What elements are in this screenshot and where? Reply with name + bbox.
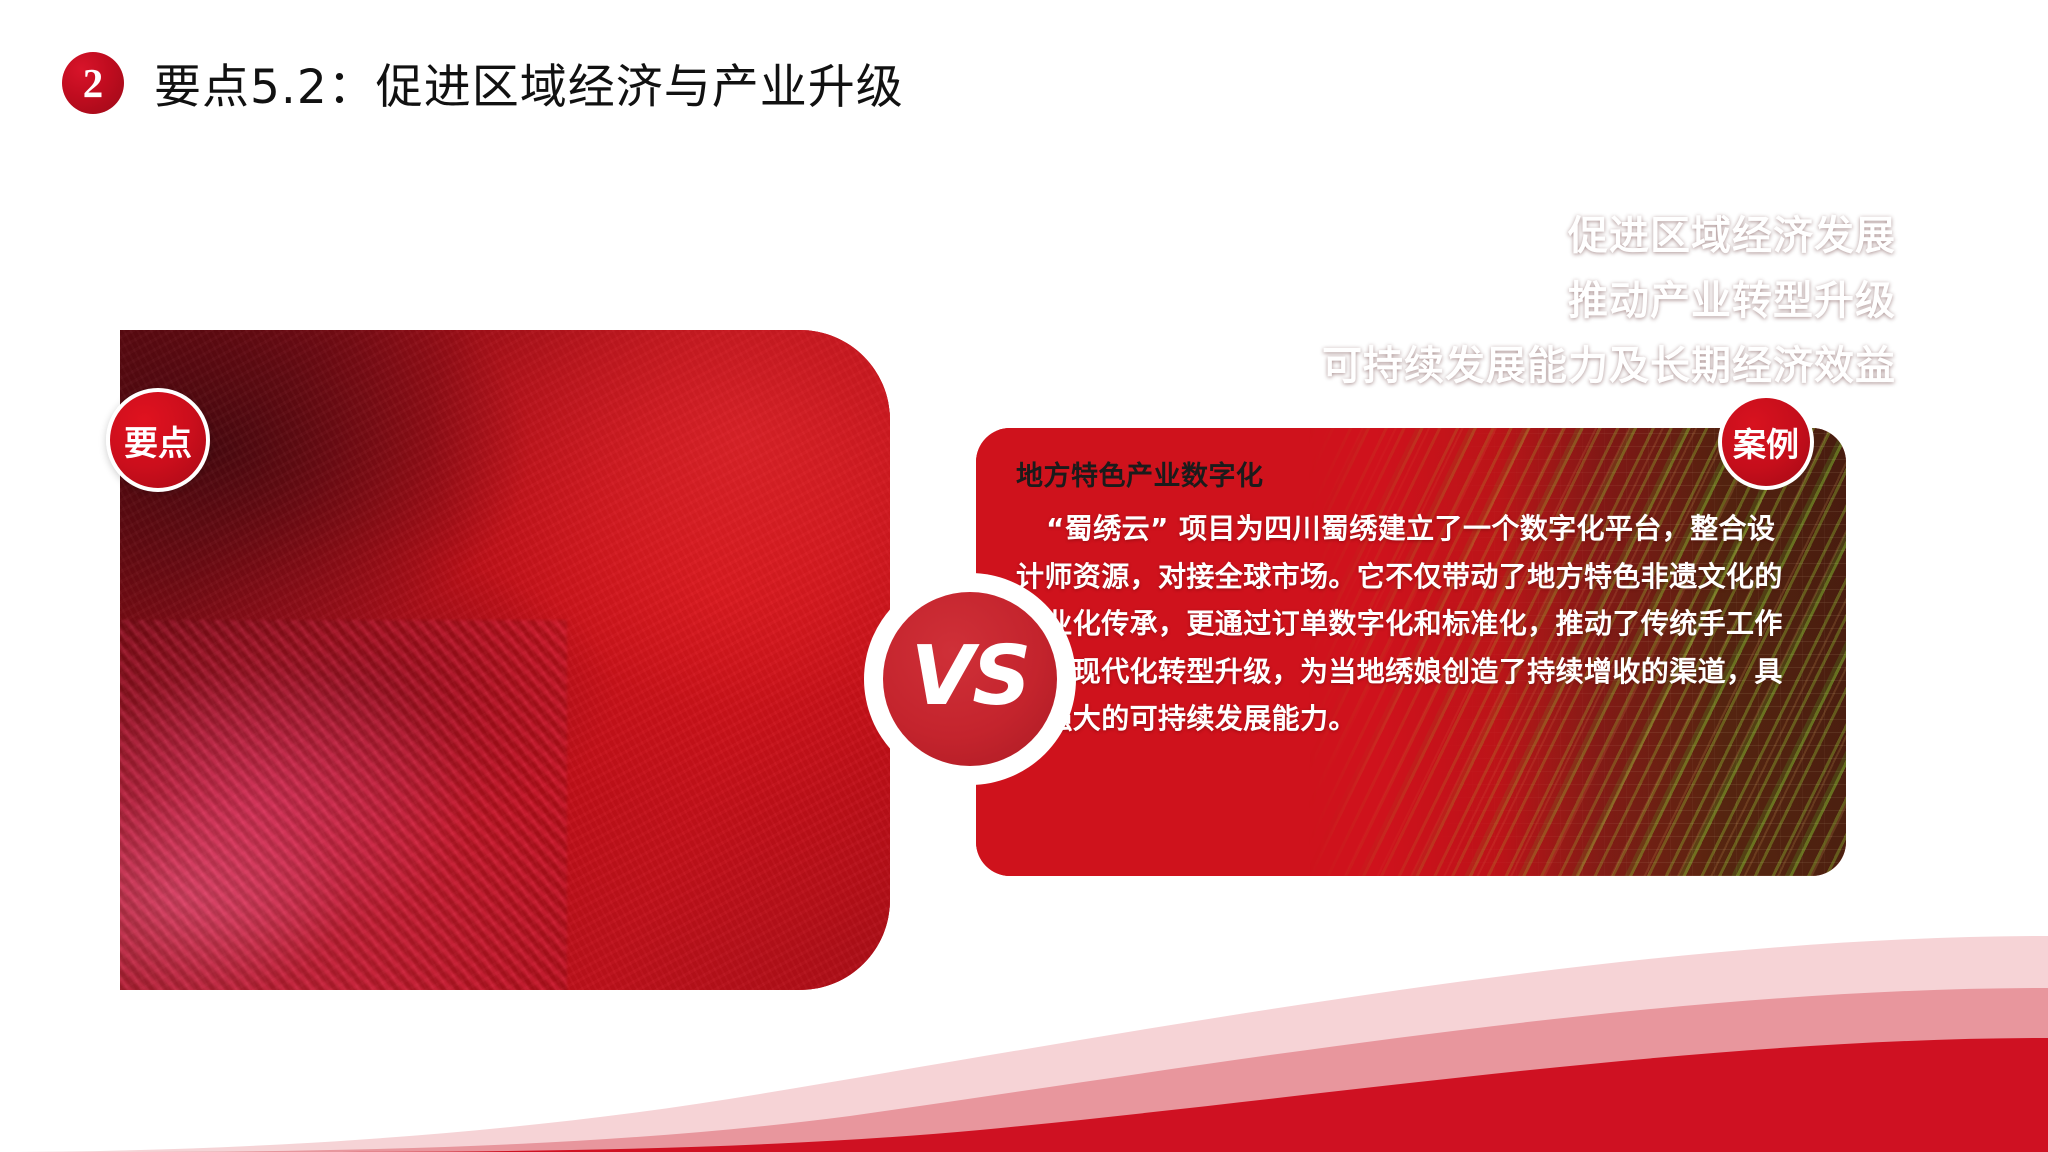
- red-glow-overlay: [428, 330, 890, 713]
- page-title: 要点5.2：促进区域经济与产业升级: [154, 48, 904, 117]
- key-point-line: 可持续发展能力及长期经济效益: [1276, 334, 1896, 399]
- swoosh-strong: [300, 1038, 2048, 1152]
- key-point-line: 推动产业转型升级: [1276, 269, 1896, 334]
- vs-divider-badge: VS: [864, 573, 1076, 785]
- case-study-content: 地方特色产业数字化 “蜀绣云” 项目为四川蜀绣建立了一个数字化平台，整合设计师资…: [1016, 454, 1790, 743]
- key-point-line: 促进区域经济发展: [1276, 204, 1896, 269]
- slide-header: 2 要点5.2：促进区域经济与产业升级: [62, 48, 904, 117]
- swoosh-mid: [120, 988, 2048, 1152]
- vs-label: VS: [911, 636, 1030, 718]
- key-point-card: [120, 330, 890, 990]
- key-point-badge: 要点: [106, 388, 210, 492]
- case-study-body: “蜀绣云” 项目为四川蜀绣建立了一个数字化平台，整合设计师资源，对接全球市场。它…: [1016, 505, 1790, 743]
- case-study-subtitle: 地方特色产业数字化: [1016, 454, 1790, 493]
- key-point-list: 促进区域经济发展 推动产业转型升级 可持续发展能力及长期经济效益: [1276, 204, 1896, 398]
- case-study-card: 地方特色产业数字化 “蜀绣云” 项目为四川蜀绣建立了一个数字化平台，整合设计师资…: [976, 428, 1846, 876]
- section-number-badge: 2: [62, 52, 124, 114]
- vs-inner-circle: VS: [883, 592, 1057, 766]
- case-study-badge: 案例: [1718, 394, 1814, 490]
